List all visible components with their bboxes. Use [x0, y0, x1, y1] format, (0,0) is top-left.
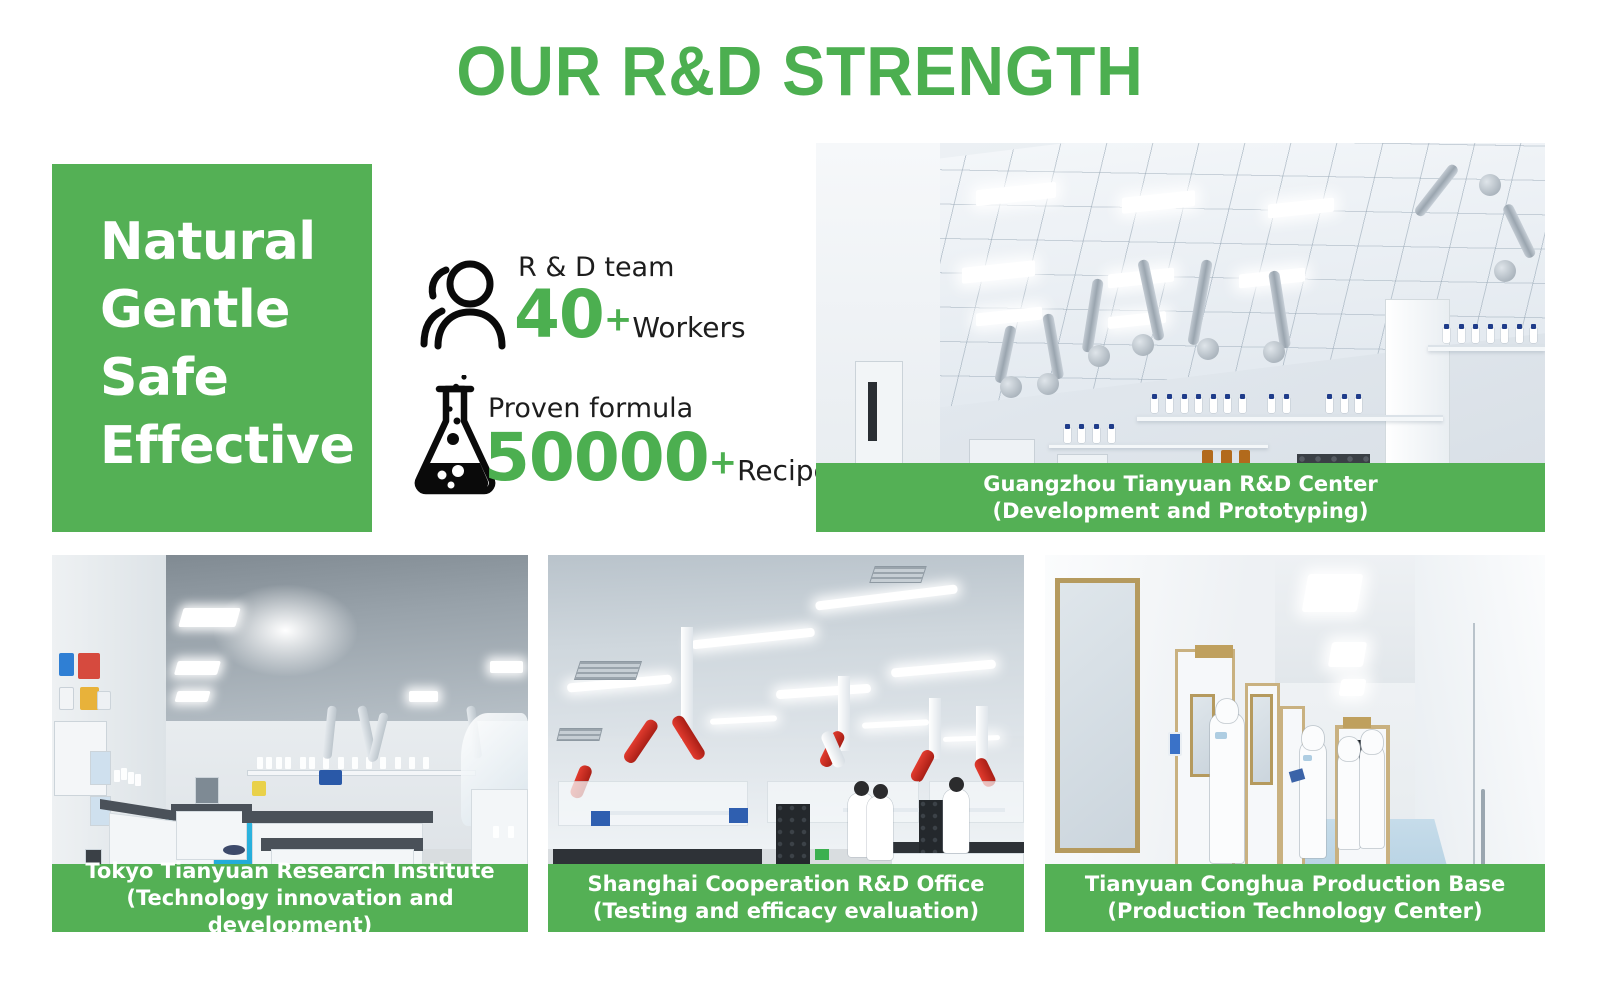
stat-rd-team-value: 40+Workers [514, 282, 746, 348]
page-title: OUR R&D STRENGTH [64, 36, 1536, 106]
stat-rd-team-plus: + [604, 300, 633, 340]
rd-strength-poster: OUR R&D STRENGTH Natural Gentle Safe Eff… [0, 0, 1600, 988]
stat-rd-team-unit: Workers [632, 311, 745, 344]
caption-tokyo-line2: (Technology innovation and development) [52, 885, 528, 933]
photo-card-conghua[interactable]: Tianyuan Conghua Production Base (Produc… [1045, 555, 1545, 932]
caption-guangzhou-line1: Guangzhou Tianyuan R&D Center [983, 471, 1377, 498]
caption-tokyo: Tokyo Tianyuan Research Institute (Techn… [52, 864, 528, 932]
photo-card-tokyo[interactable]: Tokyo Tianyuan Research Institute (Techn… [52, 555, 528, 932]
slogan-line-safe: Safe [100, 344, 362, 412]
caption-tokyo-line1: Tokyo Tianyuan Research Institute [85, 858, 494, 885]
slogan-line-gentle: Gentle [100, 276, 362, 344]
slogan-panel: Natural Gentle Safe Effective [52, 164, 372, 532]
photo-card-guangzhou[interactable]: Guangzhou Tianyuan R&D Center (Developme… [816, 143, 1545, 532]
caption-conghua: Tianyuan Conghua Production Base (Produc… [1045, 864, 1545, 932]
stat-proven-formula-plus: + [709, 443, 738, 483]
stat-rd-team-number: 40 [514, 276, 604, 353]
stat-proven-formula-number: 50000 [484, 419, 709, 496]
caption-conghua-line1: Tianyuan Conghua Production Base [1085, 871, 1505, 898]
caption-conghua-line2: (Production Technology Center) [1107, 898, 1482, 925]
stats-group: R & D team 40+Workers [400, 248, 800, 500]
stat-proven-formula: Proven formula 50000+Recipes [400, 375, 800, 500]
two-people-icon [412, 258, 516, 355]
slogan-line-effective: Effective [100, 412, 362, 480]
caption-guangzhou-line2: (Development and Prototyping) [993, 498, 1369, 525]
caption-guangzhou: Guangzhou Tianyuan R&D Center (Developme… [816, 463, 1545, 532]
stat-rd-team: R & D team 40+Workers [400, 248, 800, 363]
caption-shanghai-line1: Shanghai Cooperation R&D Office [587, 871, 984, 898]
caption-shanghai: Shanghai Cooperation R&D Office (Testing… [548, 864, 1024, 932]
photo-card-shanghai[interactable]: Shanghai Cooperation R&D Office (Testing… [548, 555, 1024, 932]
slogan-line-natural: Natural [100, 208, 362, 276]
stat-proven-formula-caption: Proven formula [488, 395, 693, 422]
stat-proven-formula-value: 50000+Recipes [484, 425, 845, 491]
slogan-list: Natural Gentle Safe Effective [100, 208, 362, 480]
caption-shanghai-line2: (Testing and efficacy evaluation) [593, 898, 979, 925]
